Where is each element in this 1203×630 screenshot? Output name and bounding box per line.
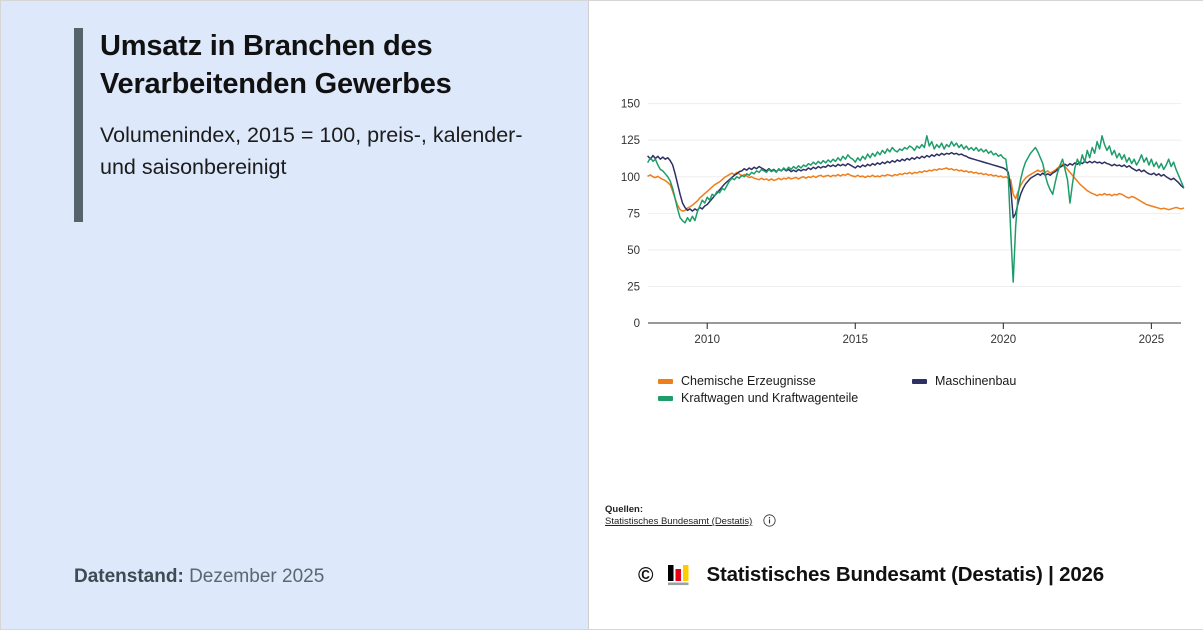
chart-legend: Chemische Erzeugnisse Maschinenbau Kraft… [658, 374, 1198, 408]
legend-label-chemische-erzeugnisse: Chemische Erzeugnisse [681, 374, 816, 388]
svg-text:0: 0 [634, 318, 640, 330]
right-panel: 02550751001251502010201520202025 Chemisc… [590, 1, 1203, 629]
legend-label-kraftwagen: Kraftwagen und Kraftwagenteile [681, 391, 858, 405]
legend-item-maschinenbau[interactable]: Maschinenbau [912, 374, 1016, 388]
copyright-text: Statistisches Bundesamt (Destatis) | 202… [706, 563, 1103, 587]
svg-text:150: 150 [621, 99, 640, 111]
svg-text:50: 50 [627, 245, 640, 257]
page-title: Umsatz in Branchen des Verarbeitenden Ge… [100, 28, 544, 103]
line-chart: 02550751001251502010201520202025 [603, 81, 1191, 361]
legend-label-maschinenbau: Maschinenbau [935, 374, 1016, 388]
title-block: Umsatz in Branchen des Verarbeitenden Ge… [74, 28, 544, 183]
page-subtitle: Volumenindex, 2015 = 100, preis-, kalend… [100, 120, 544, 182]
datenstand: Datenstand: Dezember 2025 [74, 566, 324, 588]
svg-text:75: 75 [627, 208, 640, 220]
legend-swatch-orange [658, 379, 673, 384]
legend-item-kraftwagen[interactable]: Kraftwagen und Kraftwagenteile [658, 391, 912, 405]
sources-link[interactable]: Statistisches Bundesamt (Destatis) [605, 516, 752, 528]
left-panel: Umsatz in Branchen des Verarbeitenden Ge… [1, 1, 589, 629]
legend-swatch-navy [912, 379, 927, 384]
svg-text:125: 125 [621, 135, 640, 147]
svg-text:100: 100 [621, 172, 640, 184]
copyright-bar: © Statistisches Bundesamt (Destatis) | 2… [638, 563, 1104, 587]
sources-block: Quellen: Statistisches Bundesamt (Destat… [605, 504, 776, 528]
svg-text:2020: 2020 [991, 334, 1017, 346]
svg-text:2010: 2010 [694, 334, 720, 346]
legend-row-2: Kraftwagen und Kraftwagenteile [658, 391, 1198, 405]
datenstand-value: Dezember 2025 [189, 566, 324, 587]
accent-bar [74, 28, 83, 222]
copyright-symbol: © [638, 565, 653, 586]
legend-row-1: Chemische Erzeugnisse Maschinenbau [658, 374, 1198, 388]
svg-text:2015: 2015 [842, 334, 868, 346]
legend-item-chemische-erzeugnisse[interactable]: Chemische Erzeugnisse [658, 374, 912, 388]
sources-label: Quellen: [605, 504, 752, 516]
destatis-logo [667, 563, 692, 587]
infographic-frame: Umsatz in Branchen des Verarbeitenden Ge… [0, 0, 1203, 630]
info-circle-icon[interactable] [763, 514, 776, 527]
legend-swatch-green [658, 396, 673, 401]
chart-plot-area: 02550751001251502010201520202025 [603, 81, 1191, 361]
sources-text: Quellen: Statistisches Bundesamt (Destat… [605, 504, 752, 528]
svg-text:25: 25 [627, 281, 640, 293]
svg-text:2025: 2025 [1139, 334, 1165, 346]
datenstand-label: Datenstand: [74, 566, 184, 587]
